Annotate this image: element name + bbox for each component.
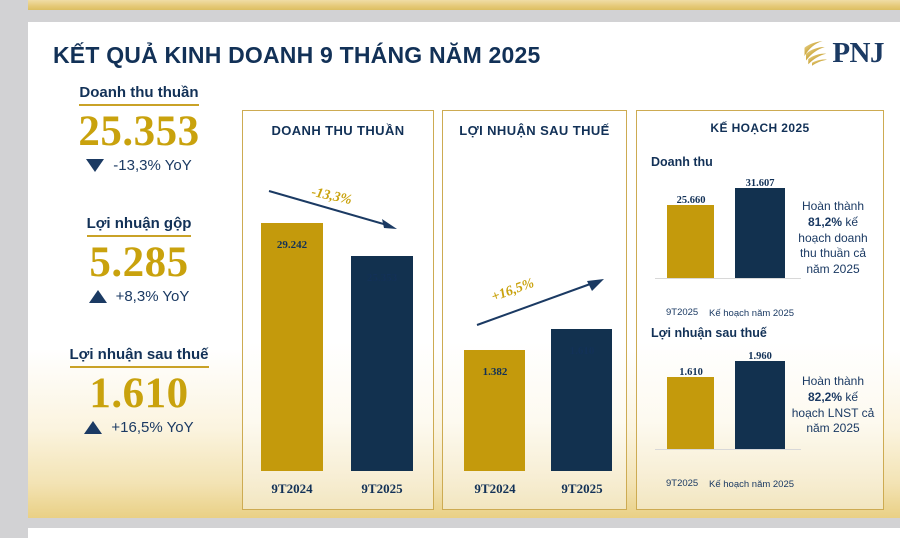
chart-baseline [655,449,801,450]
kpi-delta: -13,3% YoY [50,157,228,174]
plan-note-pre: Hoàn thành [802,199,864,213]
kpi-delta-text: +8,3% YoY [116,288,190,305]
plan-note-pre: Hoàn thành [802,374,864,388]
kpi-value: 25.353 [50,108,228,156]
chart-panel-plan-2025: KẾ HOẠCH 2025 Doanh thu 25.660 31.607 9T… [636,110,884,510]
plan-heading: Doanh thu [651,155,713,169]
kpi-label: Lợi nhuận gộp [87,215,192,237]
kpi-value: 5.285 [50,239,228,287]
kpi-column: Doanh thu thuần 25.353 -13,3% YoY Lợi nh… [50,84,228,504]
plan-note-revenue: Hoàn thành 81,2% kế hoạch doanh thu thuầ… [791,199,875,278]
bar-value-actual: 25.660 [651,195,731,206]
bar-category-9t2025: 9T2025 [332,481,432,497]
bar-actual-9t2025 [667,205,714,278]
bar-chart-plan-profit: 1.610 1.960 9T2025 Kế hoạch năm 2025 [647,348,795,476]
kpi-gross-profit: Lợi nhuận gộp 5.285 +8,3% YoY [50,215,228,305]
bar-category-9t2024: 9T2024 [242,481,342,497]
pnj-logo: PNJ [800,38,884,68]
chart-baseline [655,278,801,279]
kpi-delta: +16,5% YoY [50,419,228,436]
bar-category-plan: Kế hoạch năm 2025 [709,308,794,319]
bar-value-actual: 1.610 [651,367,731,378]
triangle-up-icon [89,290,107,303]
triangle-up-icon [84,421,102,434]
kpi-label: Doanh thu thuần [79,84,198,106]
earnings-infographic-card: KẾT QUẢ KINH DOANH 9 THÁNG NĂM 2025 PNJ [28,22,900,518]
bar-plan-2025 [735,188,785,278]
plan-note-percent: 81,2% [808,215,842,229]
infographic-canvas: KẾT QUẢ KINH DOANH 9 THÁNG NĂM 2025 PNJ [0,0,900,538]
bar-9t2025 [351,256,413,471]
pnj-fan-logo-icon [800,38,830,68]
kpi-delta-text: -13,3% YoY [113,157,191,174]
kpi-value: 1.610 [50,370,228,418]
chart-panel-net-revenue: DOANH THU THUẦN -13,3% 29.242 25.353 9T2… [242,110,434,510]
bar-plan-2025 [735,361,785,449]
bar-value-9t2024: 29.242 [242,239,342,251]
bar-category-actual: 9T2025 [666,307,698,318]
plan-block-revenue: Doanh thu 25.660 31.607 9T2025 Kế hoạch … [637,155,883,330]
plan-note-profit: Hoàn thành 82,2% kế hoạch LNST cả năm 20… [791,374,875,437]
kpi-profit-after-tax: Lợi nhuận sau thuế 1.610 +16,5% YoY [50,346,228,436]
bar-9t2024 [261,223,323,471]
plan-note-percent: 82,2% [808,390,842,404]
kpi-net-revenue: Doanh thu thuần 25.353 -13,3% YoY [50,84,228,174]
bar-actual-9t2025 [667,377,714,449]
page-title: KẾT QUẢ KINH DOANH 9 THÁNG NĂM 2025 [53,42,541,69]
bar-chart-net-revenue: -13,3% 29.242 25.353 9T2024 9T2025 [243,111,433,509]
bar-category-plan: Kế hoạch năm 2025 [709,479,794,490]
panel-title: KẾ HOẠCH 2025 [637,121,883,135]
plan-heading: Lợi nhuận sau thuế [651,326,767,340]
kpi-delta-text: +16,5% YoY [111,419,193,436]
bar-category-9t2025: 9T2025 [532,481,632,497]
triangle-down-icon [86,159,104,172]
next-card-edge [28,528,900,538]
bar-category-9t2024: 9T2024 [445,481,545,497]
previous-card-edge [28,0,900,10]
bar-value-9t2025: 1.610 [532,345,632,357]
bar-value-plan: 1.960 [720,351,800,362]
plan-block-profit: Lợi nhuận sau thuế 1.610 1.960 9T2025 Kế… [637,326,883,506]
pnj-logo-text: PNJ [832,39,884,68]
bar-value-9t2024: 1.382 [445,366,545,378]
kpi-label: Lợi nhuận sau thuế [70,346,209,368]
chart-panel-profit-after-tax: LỢI NHUẬN SAU THUẾ +16,5% 1.382 1.610 9T… [442,110,627,510]
kpi-delta: +8,3% YoY [50,288,228,305]
bar-value-plan: 31.607 [720,178,800,189]
bar-chart-plan-revenue: 25.660 31.607 9T2025 Kế hoạch năm 2025 [647,177,795,305]
bar-value-9t2025: 25.353 [332,272,432,284]
bar-chart-profit-after-tax: +16,5% 1.382 1.610 9T2024 9T2025 [443,111,626,509]
bar-category-actual: 9T2025 [666,478,698,489]
